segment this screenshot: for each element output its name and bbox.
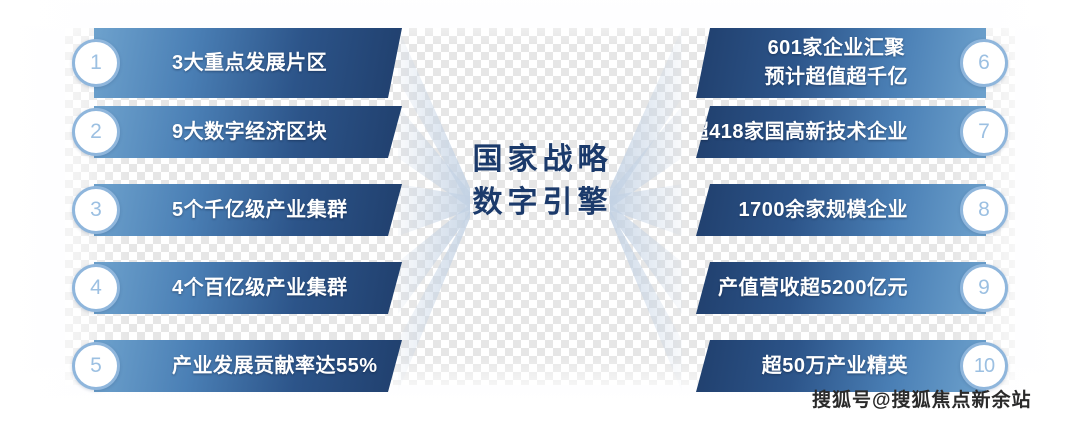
bar-right-6-label-line-2: 预计超值超千亿 <box>765 66 909 88</box>
badge-7[interactable]: 7 <box>960 108 1008 156</box>
bar-left-4-label: 4个百亿级产业集群 <box>172 276 348 301</box>
badge-1[interactable]: 1 <box>72 39 120 87</box>
badge-2[interactable]: 2 <box>72 108 120 156</box>
bar-right-9: 产值营收超5200亿元 <box>696 262 986 314</box>
bar-left-5: 产业发展贡献率达55% <box>94 340 402 392</box>
list-item-left-1[interactable]: 3大重点发展片区 1 <box>72 28 402 98</box>
infographic-canvas: 国家战略 数字引擎 3大重点发展片区 1 9大数字经济区块 2 5个千亿级产业集… <box>0 0 1080 421</box>
bar-right-10-label: 超50万产业精英 <box>762 354 908 379</box>
list-item-right-6[interactable]: 601家企业汇聚 预计超值超千亿 6 <box>696 28 1008 98</box>
badge-9[interactable]: 9 <box>960 264 1008 312</box>
badge-4[interactable]: 4 <box>72 264 120 312</box>
bar-left-4: 4个百亿级产业集群 <box>94 262 402 314</box>
list-item-left-2[interactable]: 9大数字经济区块 2 <box>72 106 402 158</box>
bar-right-6-label-line-1: 601家企业汇聚 <box>768 37 905 59</box>
bar-right-7-label: 超418家国高新技术企业 <box>689 120 908 145</box>
bar-right-8: 1700余家规模企业 <box>696 184 986 236</box>
list-item-right-7[interactable]: 超418家国高新技术企业 7 <box>696 106 1008 158</box>
center-headline-line-1: 国家战略 <box>420 138 660 181</box>
bar-left-2-label: 9大数字经济区块 <box>172 120 327 145</box>
bar-left-3-label: 5个千亿级产业集群 <box>172 198 348 223</box>
center-headline-line-2: 数字引擎 <box>420 181 660 224</box>
watermark: 搜狐号@搜狐焦点新余站 <box>812 385 1032 412</box>
list-item-left-4[interactable]: 4个百亿级产业集群 4 <box>72 262 402 314</box>
bar-right-9-label: 产值营收超5200亿元 <box>718 276 908 301</box>
bar-left-5-label: 产业发展贡献率达55% <box>172 354 378 379</box>
badge-8[interactable]: 8 <box>960 186 1008 234</box>
bar-left-2: 9大数字经济区块 <box>94 106 402 158</box>
list-item-left-5[interactable]: 产业发展贡献率达55% 5 <box>72 340 402 392</box>
list-item-right-8[interactable]: 1700余家规模企业 8 <box>696 184 1008 236</box>
badge-5[interactable]: 5 <box>72 342 120 390</box>
bar-right-8-label: 1700余家规模企业 <box>739 198 909 223</box>
bar-left-1: 3大重点发展片区 <box>94 28 402 98</box>
badge-10[interactable]: 10 <box>960 342 1008 390</box>
bar-right-6-label: 601家企业汇聚 预计超值超千亿 <box>765 34 909 92</box>
list-item-left-3[interactable]: 5个千亿级产业集群 3 <box>72 184 402 236</box>
list-item-right-9[interactable]: 产值营收超5200亿元 9 <box>696 262 1008 314</box>
bar-left-1-label: 3大重点发展片区 <box>172 49 327 78</box>
center-headline: 国家战略 数字引擎 <box>420 138 660 224</box>
badge-3[interactable]: 3 <box>72 186 120 234</box>
bar-left-3: 5个千亿级产业集群 <box>94 184 402 236</box>
bar-right-6: 601家企业汇聚 预计超值超千亿 <box>696 28 986 98</box>
bar-right-7: 超418家国高新技术企业 <box>696 106 986 158</box>
badge-6[interactable]: 6 <box>960 39 1008 87</box>
